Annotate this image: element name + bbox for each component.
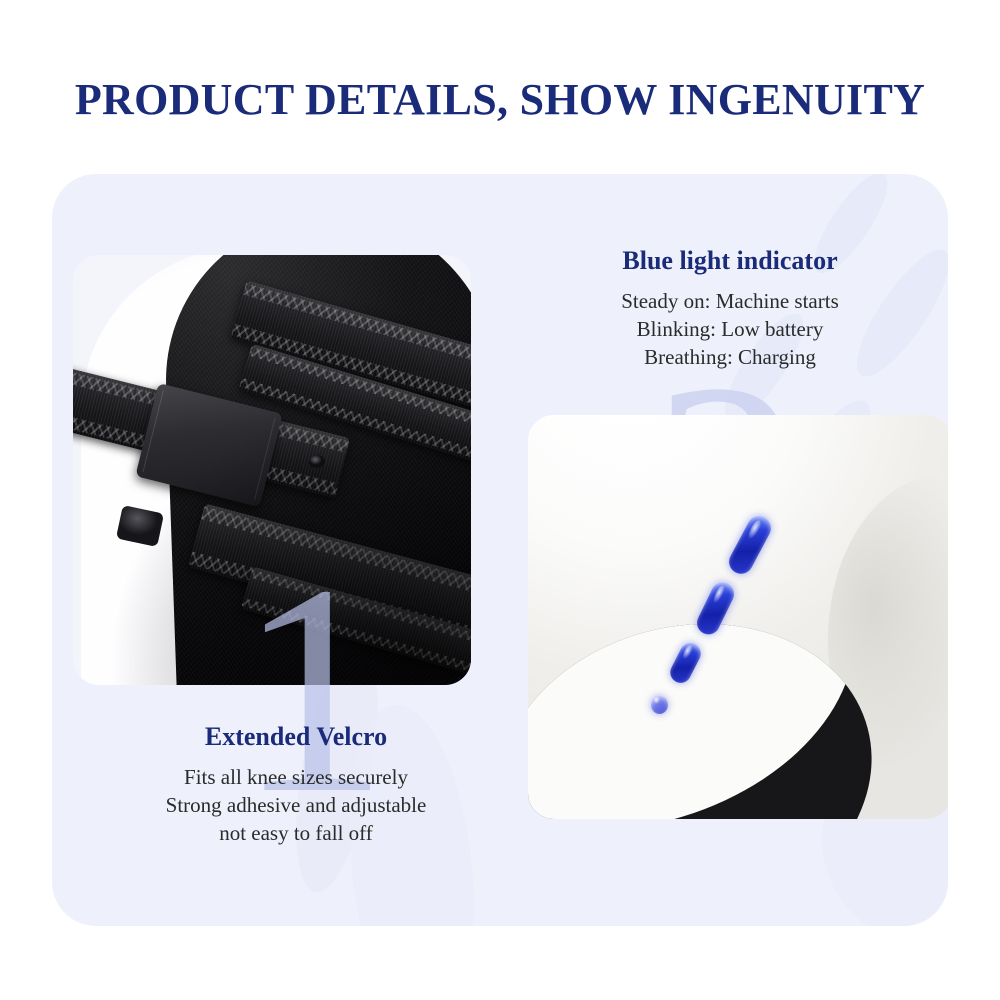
blue-light-indicator-photo <box>528 415 948 819</box>
brace-stud-detail <box>309 455 325 468</box>
feature-heading: Blue light indicator <box>528 246 932 276</box>
page-title: PRODUCT DETAILS, SHOW INGENUITY <box>0 74 1000 125</box>
led-indicator-4-icon <box>651 696 668 714</box>
feature-description-line: not easy to fall off <box>108 819 484 847</box>
feature-description-line: Strong adhesive and adjustable <box>108 791 484 819</box>
feature-description-line: Blinking: Low battery <box>528 315 932 343</box>
feature-description-line: Steady on: Machine starts <box>528 287 932 315</box>
feature-description-line: Fits all knee sizes securely <box>108 763 484 791</box>
feature-heading: Extended Velcro <box>108 722 484 752</box>
product-detail-page: PRODUCT DETAILS, SHOW INGENUITY 2 <box>0 0 1000 1000</box>
feature-label-blue-light-indicator: Blue light indicator Steady on: Machine … <box>528 246 932 371</box>
feature-description: Fits all knee sizes securely Strong adhe… <box>108 763 484 847</box>
feature-description-line: Breathing: Charging <box>528 343 932 371</box>
feature-description: Steady on: Machine starts Blinking: Low … <box>528 287 932 371</box>
feature-label-extended-velcro: Extended Velcro Fits all knee sizes secu… <box>108 722 484 847</box>
